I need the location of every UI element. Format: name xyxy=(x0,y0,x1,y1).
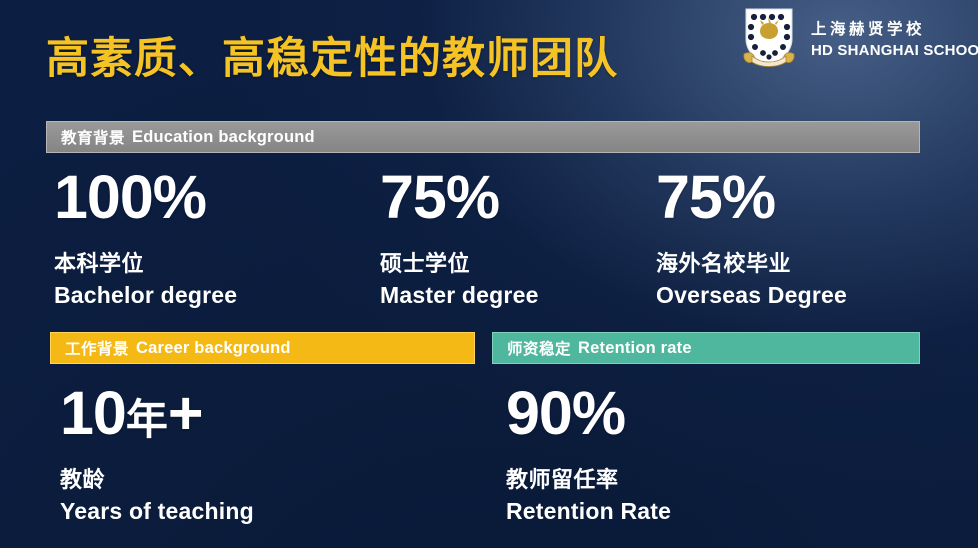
stat-bachelor-label-en: Bachelor degree xyxy=(54,282,237,309)
section-label-retention-en: Retention rate xyxy=(578,339,692,358)
stat-master: 75% 硕士学位 Master degree xyxy=(380,167,539,309)
stat-years-number: 10 xyxy=(60,379,126,447)
stat-years-label-cn: 教龄 xyxy=(60,462,254,494)
section-label-career-en: Career background xyxy=(136,339,291,358)
school-logo: 上海赫贤学校 HD SHANGHAI SCHOO xyxy=(741,6,978,68)
stat-bachelor-label-cn: 本科学位 xyxy=(54,246,237,278)
stat-retention-label-cn: 教师留任率 xyxy=(506,462,671,494)
stat-years-unit: 年 xyxy=(126,396,168,443)
stat-retention-value: 90% xyxy=(506,383,671,444)
stat-years-value: 10年+ xyxy=(60,383,254,444)
slide-canvas: 高素质、高稳定性的教师团队 xyxy=(0,0,978,548)
stat-overseas: 75% 海外名校毕业 Overseas Degree xyxy=(656,167,847,309)
stat-bachelor: 100% 本科学位 Bachelor degree xyxy=(54,167,237,309)
stat-overseas-label-cn: 海外名校毕业 xyxy=(656,246,847,278)
school-crest-shield-icon xyxy=(741,6,797,68)
stat-years-of-teaching: 10年+ 教龄 Years of teaching xyxy=(60,383,254,525)
stat-years-label-en: Years of teaching xyxy=(60,498,254,525)
stat-master-value: 75% xyxy=(380,167,539,228)
stat-bachelor-value: 100% xyxy=(54,167,237,228)
stat-master-label-en: Master degree xyxy=(380,282,539,309)
stat-retention-label-en: Retention Rate xyxy=(506,498,671,525)
school-name-cn: 上海赫贤学校 xyxy=(811,17,978,39)
stat-overseas-value: 75% xyxy=(656,167,847,228)
stat-overseas-label-en: Overseas Degree xyxy=(656,282,847,309)
section-bar-career: 工作背景 Career background xyxy=(50,332,475,364)
section-label-retention-cn: 师资稳定 xyxy=(507,337,571,359)
stat-master-label-cn: 硕士学位 xyxy=(380,246,539,278)
school-name-block: 上海赫贤学校 HD SHANGHAI SCHOO xyxy=(811,15,978,59)
section-bar-education: 教育背景 Education background xyxy=(46,121,920,153)
section-label-career-cn: 工作背景 xyxy=(65,337,129,359)
section-label-education-cn: 教育背景 xyxy=(61,126,125,148)
section-label-education-en: Education background xyxy=(132,128,315,147)
school-name-en: HD SHANGHAI SCHOO xyxy=(811,42,978,59)
page-title: 高素质、高稳定性的教师团队 xyxy=(46,24,618,86)
stat-years-suffix: + xyxy=(168,379,203,447)
section-bar-retention: 师资稳定 Retention rate xyxy=(492,332,920,364)
stat-retention-rate: 90% 教师留任率 Retention Rate xyxy=(506,383,671,525)
